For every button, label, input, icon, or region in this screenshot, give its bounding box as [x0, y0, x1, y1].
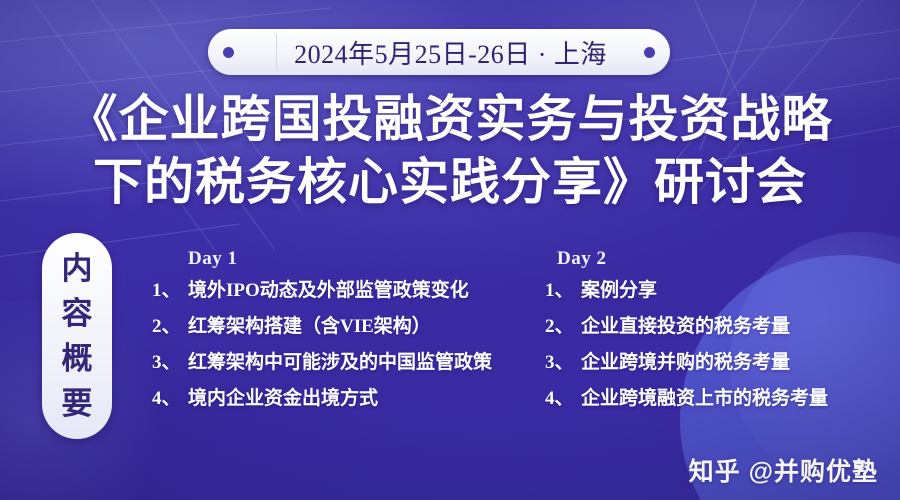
- agenda-column-day1: Day 1 1、 境外IPO动态及外部监管政策变化 2、 红筹架构搭建（含VIE…: [120, 248, 545, 425]
- agenda-item: 3、 企业跨境并购的税务考量: [545, 353, 900, 372]
- day-label-day1: Day 1: [152, 248, 545, 270]
- agenda-item-text: 企业直接投资的税务考量: [581, 317, 900, 336]
- agenda-item: 4、 境内企业资金出境方式: [152, 389, 545, 408]
- day-label-day2: Day 2: [545, 248, 900, 270]
- agenda-item-text: 红筹架构中可能涉及的中国监管政策: [188, 353, 545, 372]
- agenda-item-number: 2、: [152, 317, 188, 336]
- agenda-item-number: 2、: [545, 317, 581, 336]
- watermark: 知乎 @并购优塾: [689, 452, 878, 488]
- badge-char-4: 要: [62, 381, 93, 426]
- agenda-item: 2、 红筹架构搭建（含VIE架构）: [152, 317, 545, 336]
- agenda-container: Day 1 1、 境外IPO动态及外部监管政策变化 2、 红筹架构搭建（含VIE…: [120, 248, 882, 425]
- dot-icon-right: [644, 47, 655, 58]
- agenda-item: 1、 案例分享: [545, 281, 900, 300]
- title-line-2: 下的税务核心实践分享》研讨会: [0, 151, 900, 214]
- badge-char-2: 容: [62, 291, 93, 336]
- agenda-item: 3、 红筹架构中可能涉及的中国监管政策: [152, 353, 545, 372]
- agenda-item-number: 4、: [545, 389, 581, 408]
- agenda-item-text: 案例分享: [581, 281, 900, 300]
- event-date-pill: 2024年5月25日-26日 · 上海: [208, 29, 670, 75]
- dot-icon-left: [223, 47, 234, 58]
- agenda-item-text: 境内企业资金出境方式: [188, 389, 545, 408]
- section-badge-outline: 内 容 概 要: [42, 233, 112, 439]
- agenda-item: 2、 企业直接投资的税务考量: [545, 317, 900, 336]
- agenda-item-number: 1、: [545, 281, 581, 300]
- event-date-text: 2024年5月25日-26日 · 上海: [277, 34, 644, 71]
- event-poster: 2024年5月25日-26日 · 上海 《企业跨国投融资实务与投资战略 下的税务…: [0, 0, 900, 500]
- agenda-item-text: 红筹架构搭建（含VIE架构）: [188, 317, 545, 336]
- agenda-item-number: 3、: [152, 353, 188, 372]
- agenda-item: 1、 境外IPO动态及外部监管政策变化: [152, 281, 545, 300]
- agenda-item-number: 1、: [152, 281, 188, 300]
- agenda-item-text: 企业跨境并购的税务考量: [581, 353, 900, 372]
- badge-char-3: 概: [62, 336, 93, 381]
- page-title: 《企业跨国投融资实务与投资战略 下的税务核心实践分享》研讨会: [0, 88, 900, 214]
- agenda-item-text: 境外IPO动态及外部监管政策变化: [188, 281, 545, 300]
- agenda-item-number: 3、: [545, 353, 581, 372]
- agenda-item: 4、 企业跨境融资上市的税务考量: [545, 389, 900, 408]
- agenda-column-day2: Day 2 1、 案例分享 2、 企业直接投资的税务考量 3、 企业跨境并购的税…: [545, 248, 900, 425]
- agenda-item-number: 4、: [152, 389, 188, 408]
- agenda-item-text: 企业跨境融资上市的税务考量: [581, 389, 900, 408]
- badge-char-1: 内: [62, 246, 93, 291]
- title-line-1: 《企业跨国投融资实务与投资战略: [0, 88, 900, 151]
